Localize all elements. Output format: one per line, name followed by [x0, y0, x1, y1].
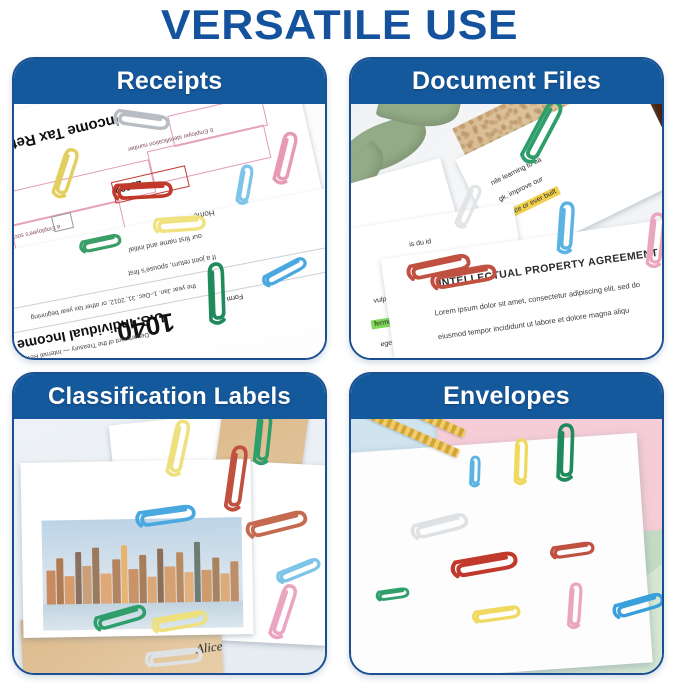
infographic-root: VERSATILE USE Receipts Inco [0, 0, 679, 683]
paperclip-blue [550, 194, 582, 258]
panel-receipts: Receipts Income Tax Return b Emplo [12, 57, 327, 360]
panel-header-envelopes: Envelopes [351, 374, 662, 419]
doc-fragment: is du id [409, 238, 432, 248]
page-title: VERSATILE USE [0, 2, 679, 48]
photo-document-files: nile learning to ba gk. improve our ance… [351, 100, 662, 358]
panel-classification-labels: Classification Labels [12, 372, 327, 675]
photo-classification-labels: Alice [14, 415, 325, 673]
panel-title-envelopes: Envelopes [443, 382, 570, 411]
photo-receipts: Income Tax Return b Employer identificat… [14, 100, 325, 358]
panel-title-document-files: Document Files [412, 67, 601, 96]
paperclip-green [550, 415, 582, 486]
paperclip-pale-yellow [149, 208, 213, 240]
panel-header-receipts: Receipts [14, 59, 325, 104]
panel-title-receipts: Receipts [117, 67, 223, 96]
paperclip-blue [463, 450, 486, 491]
panel-envelopes: Envelopes [349, 372, 664, 675]
paperclip-yellow [507, 432, 535, 489]
paperclip-dark-green [201, 253, 234, 328]
panel-title-classification-labels: Classification Labels [48, 383, 291, 411]
panel-document-files: Document Files nile learning to ba gk. i… [349, 57, 664, 360]
paperclip-red [108, 174, 181, 208]
photo-envelopes [351, 415, 662, 673]
paperclip-pink [560, 575, 590, 633]
panel-header-document-files: Document Files [351, 59, 662, 104]
panel-header-classification-labels: Classification Labels [14, 374, 325, 419]
